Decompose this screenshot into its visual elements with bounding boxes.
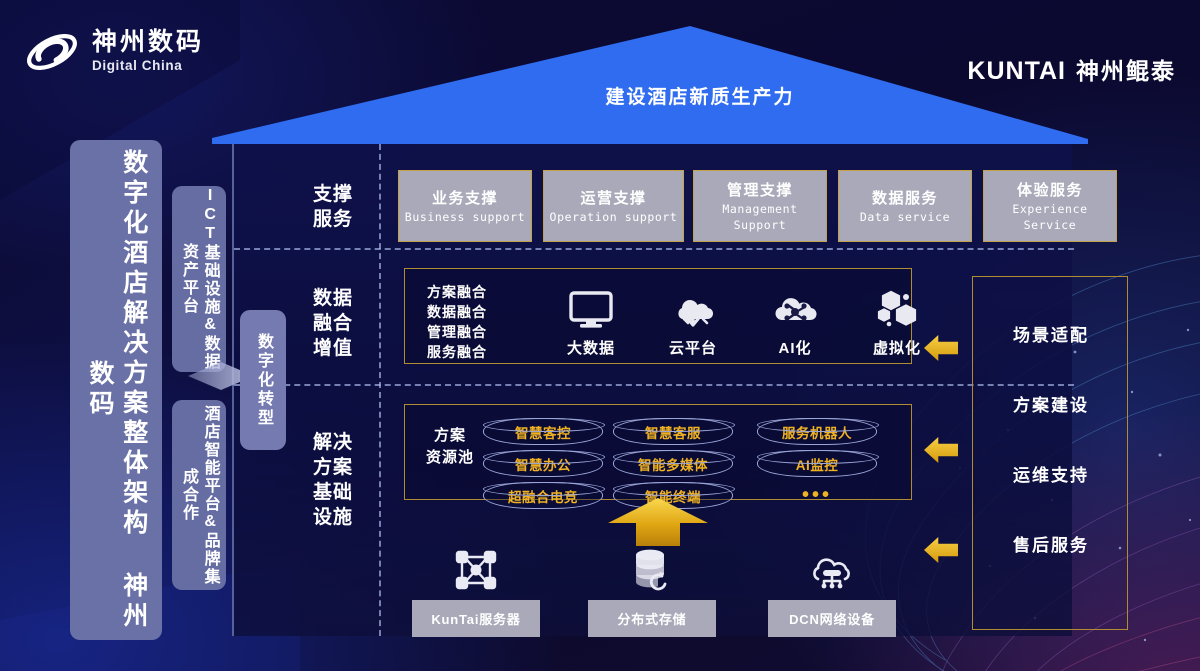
right-panel-item-ops[interactable]: 运维支持 xyxy=(973,461,1129,486)
support-box-management[interactable]: 管理支撑 Management Support xyxy=(693,170,827,242)
fusion-keywords: 方案融合 数据融合 管理融合 服务融合 xyxy=(427,283,487,363)
support-box-title-cn: 运营支撑 xyxy=(580,187,646,208)
pool-item-label: 智慧客服 xyxy=(645,422,701,442)
hotel-platform-label: 酒店智能平台&品牌集成合作 xyxy=(177,400,220,590)
swirl-ellipse-logo-icon xyxy=(24,26,80,78)
pool-item-smart-terminal[interactable]: 智能终端 xyxy=(613,482,733,509)
pool-item-hci-esports[interactable]: 超融合电竞 xyxy=(483,482,603,509)
pool-item-service-robot[interactable]: 服务机器人 xyxy=(757,418,877,445)
infra-item-server[interactable]: KunTai服务器 xyxy=(412,540,540,637)
main-title-panel: 数字化酒店解决方案整体架构 神州数码 xyxy=(70,140,162,640)
fusion-item-caption: 大数据 xyxy=(545,337,637,358)
monitor-icon xyxy=(545,287,637,333)
cloud-sync-icon xyxy=(647,287,739,333)
column-divider xyxy=(379,144,381,636)
support-box-title-en: Business support xyxy=(405,210,525,226)
pool-item-label: 服务机器人 xyxy=(782,422,852,442)
infra-item-label: 分布式存储 xyxy=(588,600,716,637)
support-box-title-cn: 数据服务 xyxy=(872,187,938,208)
pool-item-smart-multimedia[interactable]: 智能多媒体 xyxy=(613,450,733,477)
digital-china-logo: 神州数码 Digital China xyxy=(24,26,204,78)
resource-pool-label: 方案 资源池 xyxy=(423,425,477,469)
ict-platform-label: ICT基础设施&数据资产平台 xyxy=(177,186,220,372)
server-nodes-icon xyxy=(412,540,540,592)
service-capability-panel: 场景适配 方案建设 运维支持 售后服务 xyxy=(972,276,1128,630)
pool-item-smart-office[interactable]: 智慧办公 xyxy=(483,450,603,477)
pool-item-smart-service[interactable]: 智慧客服 xyxy=(613,418,733,445)
fusion-item-caption: AI化 xyxy=(749,337,841,358)
row-label-infra: 解决方案基础设施 xyxy=(290,430,376,530)
ict-platform-panel[interactable]: ICT基础设施&数据资产平台 xyxy=(172,186,226,372)
pool-item-label: 智慧客控 xyxy=(515,422,571,442)
ai-cloud-icon xyxy=(749,287,841,333)
right-panel-item-solution[interactable]: 方案建设 xyxy=(973,391,1129,416)
right-panel-item-aftersale[interactable]: 售后服务 xyxy=(973,531,1129,556)
row-label-support: 支撑服务 xyxy=(290,182,376,232)
cloud-network-icon xyxy=(768,540,896,592)
solution-resource-pool-panel: 方案 资源池 智慧客控 智慧办公 超融合电竞 智慧客服 智能多媒体 智能终端 服… xyxy=(404,404,912,500)
support-box-title-en: Data service xyxy=(860,210,950,226)
architecture-diagram-slide: 神州数码 Digital China KUNTAI 神州鲲泰 建设酒店新质生产力… xyxy=(0,0,1200,671)
row-divider-2 xyxy=(234,384,1074,386)
pool-item-label: AI监控 xyxy=(796,454,839,474)
support-box-title-en: Operation support xyxy=(550,210,678,226)
row-label-fusion: 数据融合增值 xyxy=(290,286,376,361)
fusion-item-caption: 云平台 xyxy=(647,337,739,358)
support-box-title-cn: 管理支撑 xyxy=(727,179,793,200)
infra-item-storage[interactable]: 分布式存储 xyxy=(588,540,716,637)
right-panel-item-scenario[interactable]: 场景适配 xyxy=(973,321,1129,346)
support-box-title-cn: 业务支撑 xyxy=(432,187,498,208)
logo-title-en: Digital China xyxy=(92,57,204,75)
row-divider-1 xyxy=(234,248,1074,250)
infra-item-network[interactable]: DCN网络设备 xyxy=(768,540,896,637)
pool-item-smart-room-control[interactable]: 智慧客控 xyxy=(483,418,603,445)
fusion-item-ai[interactable]: AI化 xyxy=(749,287,841,358)
support-box-title-en: Management Support xyxy=(722,202,797,233)
support-box-operation[interactable]: 运营支撑 Operation support xyxy=(543,170,684,242)
hotel-platform-panel[interactable]: 酒店智能平台&品牌集成合作 xyxy=(172,400,226,590)
pool-item-label: 智慧办公 xyxy=(515,454,571,474)
digital-transformation-label: 数字化转型 xyxy=(251,333,275,428)
fusion-item-bigdata[interactable]: 大数据 xyxy=(545,287,637,358)
kuntai-logo-cn: 神州鲲泰 xyxy=(1076,52,1176,86)
support-box-data[interactable]: 数据服务 Data service xyxy=(838,170,972,242)
support-box-title-en: Experience Service xyxy=(1012,202,1087,233)
pool-item-more[interactable]: ••• xyxy=(757,482,877,509)
roof-title: 建设酒店新质生产力 xyxy=(560,82,840,109)
page-title: 数字化酒店解决方案整体架构 神州数码 xyxy=(82,140,150,640)
pool-item-ai-monitoring[interactable]: AI监控 xyxy=(757,450,877,477)
infra-item-label: DCN网络设备 xyxy=(768,600,896,637)
pool-item-label: 超融合电竞 xyxy=(508,486,578,506)
fusion-item-cloud[interactable]: 云平台 xyxy=(647,287,739,358)
cubes-icon xyxy=(851,287,943,333)
support-box-title-cn: 体验服务 xyxy=(1017,179,1083,200)
logo-title-cn: 神州数码 xyxy=(92,29,204,57)
pool-item-label: ••• xyxy=(802,484,832,507)
support-box-business[interactable]: 业务支撑 Business support xyxy=(398,170,532,242)
data-fusion-panel: 方案融合 数据融合 管理融合 服务融合 大数据 云平台 xyxy=(404,268,912,364)
pool-item-label: 智能多媒体 xyxy=(638,454,708,474)
digital-transformation-panel[interactable]: 数字化转型 xyxy=(240,310,286,450)
database-sync-icon xyxy=(588,540,716,592)
support-box-experience[interactable]: 体验服务 Experience Service xyxy=(983,170,1117,242)
infra-item-label: KunTai服务器 xyxy=(412,600,540,637)
